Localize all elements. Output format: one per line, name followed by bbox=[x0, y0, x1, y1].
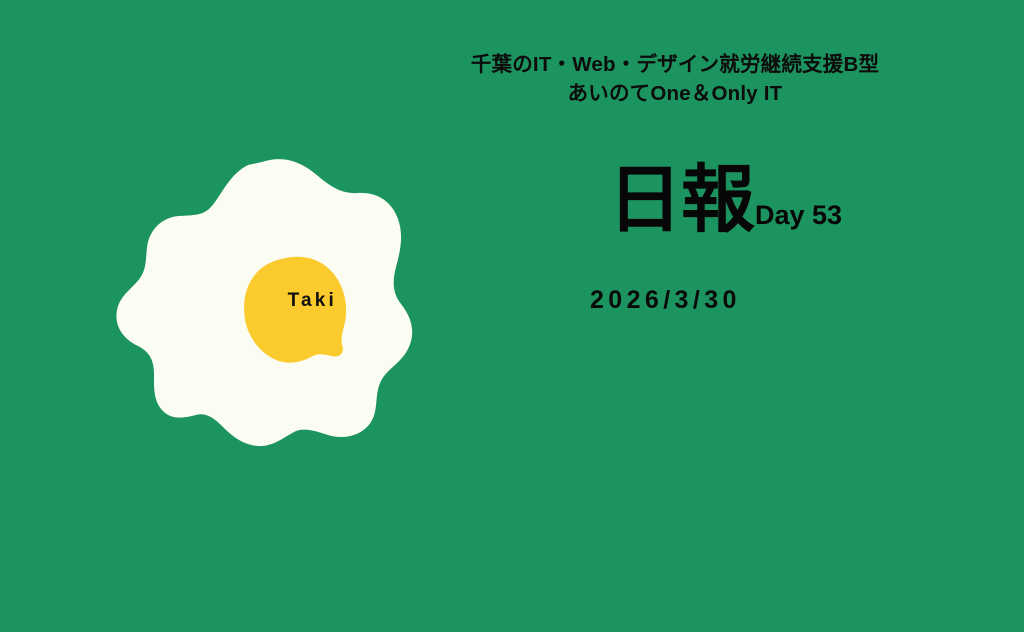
page-title: 日報 bbox=[608, 163, 754, 237]
title-text-block: 千葉のIT・Web・デザイン就労継続支援B型 あいのてOne＆Only IT 日… bbox=[455, 50, 895, 108]
day-counter-badge: Day 53 bbox=[755, 202, 842, 229]
organization-heading: 千葉のIT・Web・デザイン就労継続支援B型 あいのてOne＆Only IT bbox=[455, 50, 895, 108]
egg-yolk-shape bbox=[244, 257, 346, 363]
report-date: 2026/3/30 bbox=[590, 288, 741, 313]
fried-egg-illustration: Taki bbox=[90, 150, 450, 470]
organization-line-2: あいのてOne＆Only IT bbox=[455, 79, 895, 108]
slide-canvas: Taki 千葉のIT・Web・デザイン就労継続支援B型 あいのてOne＆Only… bbox=[0, 0, 1024, 632]
organization-line-1: 千葉のIT・Web・デザイン就労継続支援B型 bbox=[455, 50, 895, 79]
fried-egg-svg bbox=[90, 150, 450, 470]
report-title-row: 日報 Day 53 bbox=[608, 163, 842, 237]
